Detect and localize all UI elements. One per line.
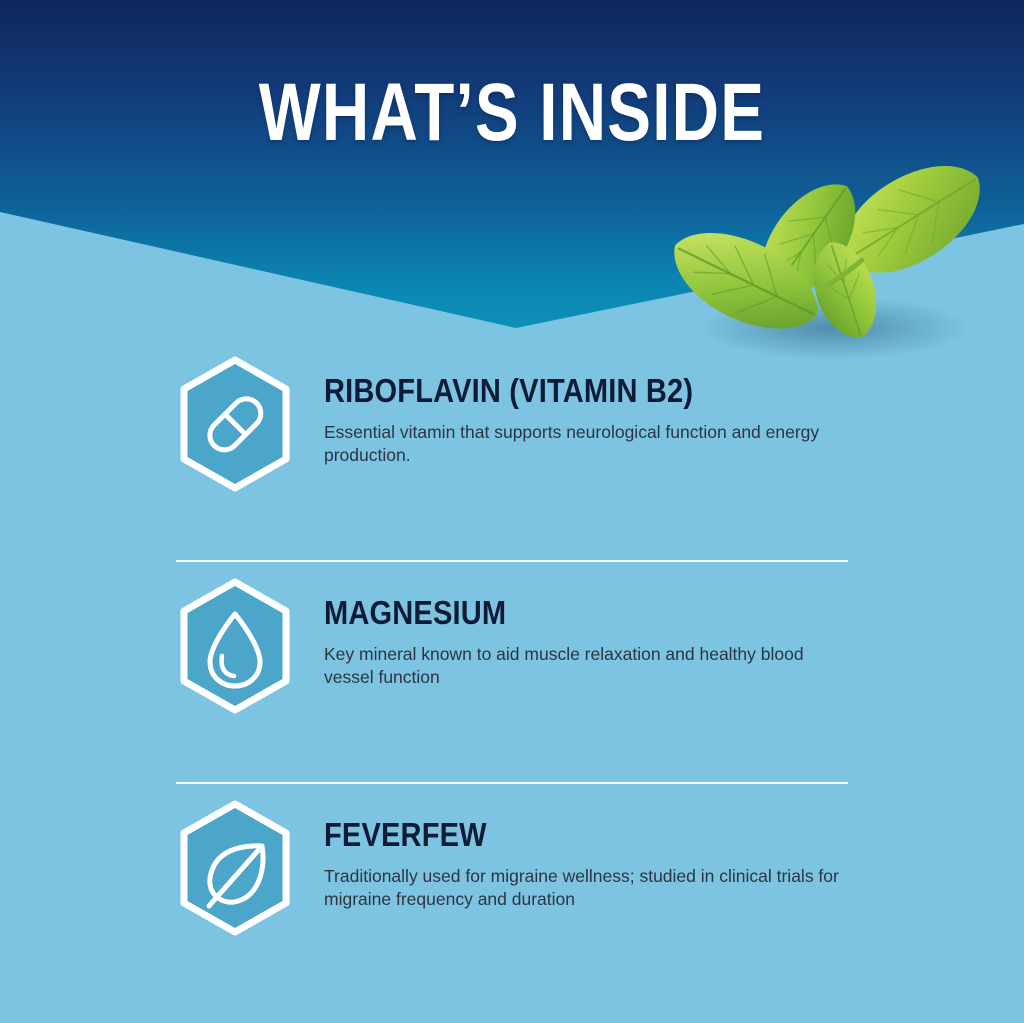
ingredient-text-block: RIBOFLAVIN (VITAMIN B2) Essential vitami… <box>294 340 884 467</box>
ingredient-description: Essential vitamin that supports neurolog… <box>324 421 844 467</box>
header-banner <box>0 0 1024 340</box>
capsule-pill-icon <box>176 354 294 494</box>
ingredient-name: MAGNESIUM <box>324 596 817 631</box>
water-droplet-icon <box>176 576 294 716</box>
ingredient-name: RIBOFLAVIN (VITAMIN B2) <box>324 374 817 409</box>
ingredient-list: RIBOFLAVIN (VITAMIN B2) Essential vitami… <box>0 340 1024 1004</box>
ingredient-item-magnesium: MAGNESIUM Key mineral known to aid muscl… <box>0 562 1024 782</box>
ingredient-item-feverfew: FEVERFEW Traditionally used for migraine… <box>0 784 1024 1004</box>
page-title: WHAT’S INSIDE <box>102 72 921 154</box>
ingredient-text-block: MAGNESIUM Key mineral known to aid muscl… <box>294 562 884 689</box>
whats-inside-infographic: WHAT’S INSIDE <box>0 0 1024 1023</box>
ingredient-description: Key mineral known to aid muscle relaxati… <box>324 643 844 689</box>
leaf-icon <box>176 798 294 938</box>
ingredient-item-riboflavin: RIBOFLAVIN (VITAMIN B2) Essential vitami… <box>0 340 1024 560</box>
ingredient-name: FEVERFEW <box>324 818 817 853</box>
ingredient-description: Traditionally used for migraine wellness… <box>324 865 844 911</box>
ingredient-text-block: FEVERFEW Traditionally used for migraine… <box>294 784 884 911</box>
